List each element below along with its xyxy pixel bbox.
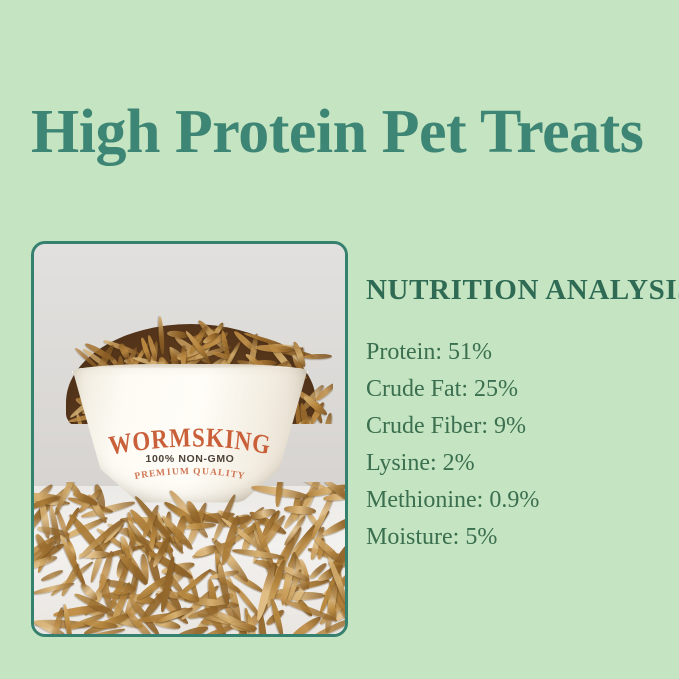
nutrition-panel: NUTRITION ANALYSIS Protein: 51%Crude Fat… bbox=[366, 276, 671, 556]
nutrition-item: Protein: 51% bbox=[366, 334, 671, 371]
nutrition-item: Crude Fat: 25% bbox=[366, 371, 671, 408]
product-infographic: High Protein Pet Treats WORMSKING 100% N… bbox=[0, 0, 679, 679]
nutrition-heading: NUTRITION ANALYSIS bbox=[366, 276, 671, 305]
nutrition-item: Lysine: 2% bbox=[366, 445, 671, 482]
mealworm bbox=[59, 563, 80, 598]
product-photo-frame: WORMSKING 100% NON-GMO PREMIUM QUALITY bbox=[31, 241, 348, 637]
mealworm bbox=[284, 505, 316, 515]
nutrition-item: Moisture: 5% bbox=[366, 519, 671, 556]
nutrition-item: Crude Fiber: 9% bbox=[366, 408, 671, 445]
scattered-mealworms bbox=[34, 482, 345, 634]
mealworm bbox=[304, 354, 332, 360]
nutrition-list: Protein: 51%Crude Fat: 25%Crude Fiber: 9… bbox=[366, 334, 671, 556]
nutrition-item: Methionine: 0.9% bbox=[366, 482, 671, 519]
page-title: High Protein Pet Treats bbox=[31, 100, 671, 165]
mealworm bbox=[40, 569, 64, 584]
product-photo: WORMSKING 100% NON-GMO PREMIUM QUALITY bbox=[34, 244, 345, 634]
